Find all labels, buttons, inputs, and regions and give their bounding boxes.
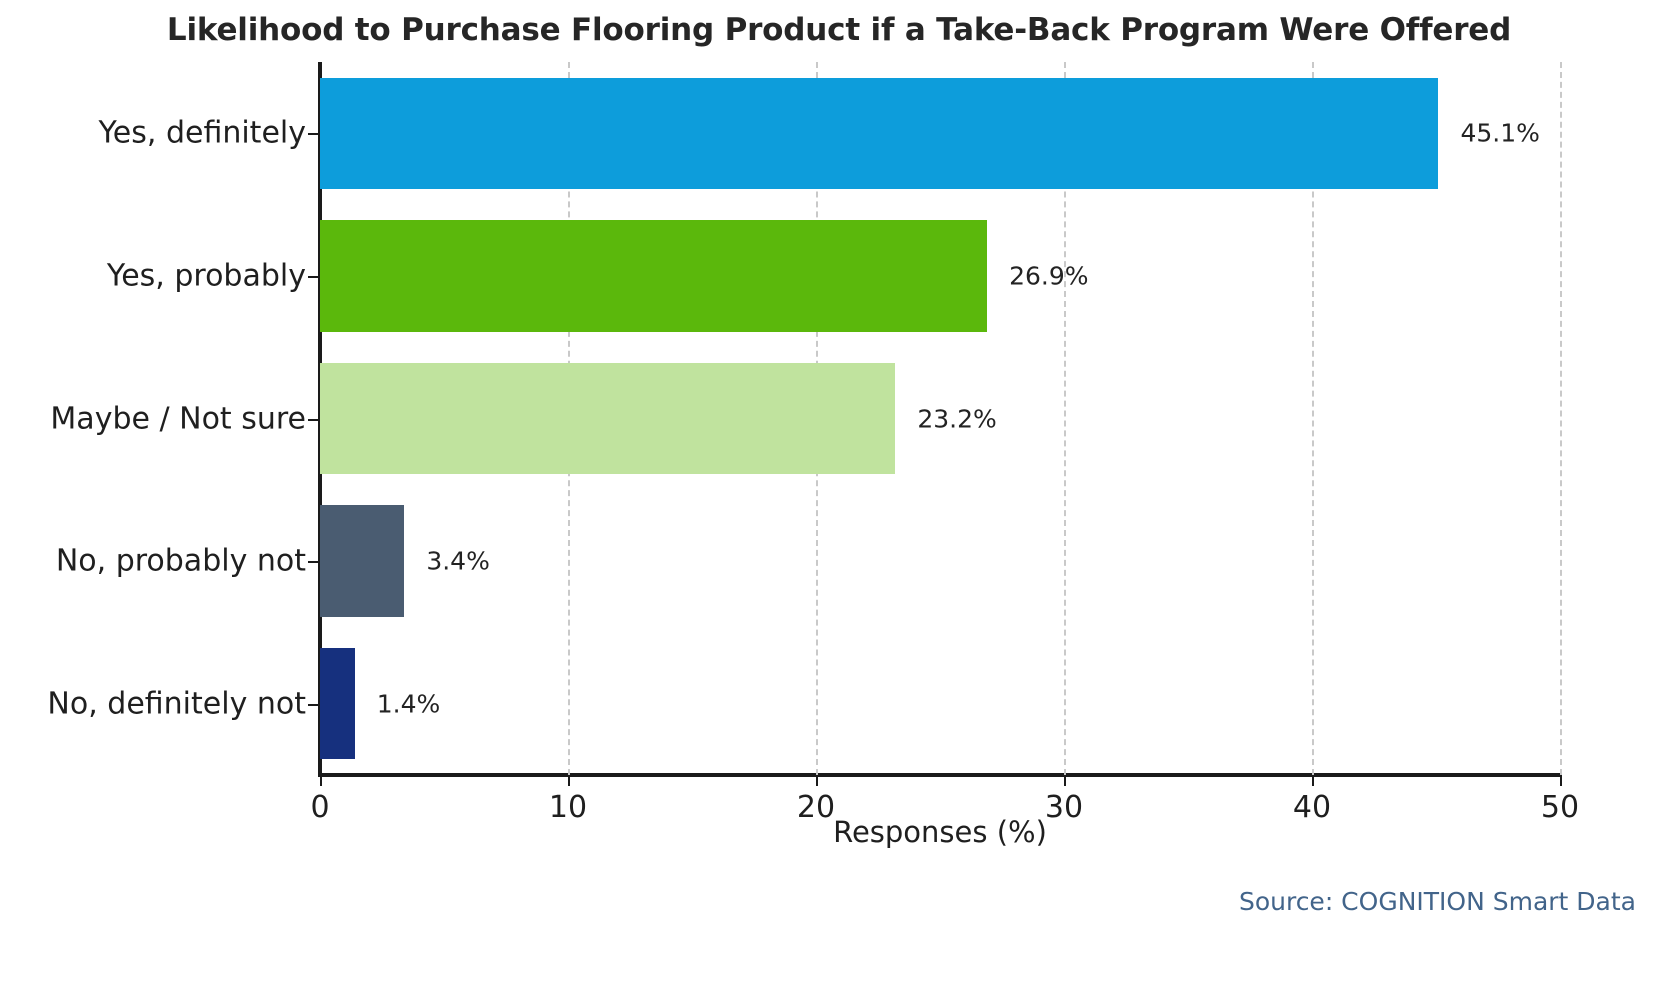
y-axis-label: No, definitely not — [47, 686, 306, 721]
x-tick-mark — [568, 775, 570, 786]
y-tick-mark — [308, 419, 320, 421]
y-tick-mark — [308, 561, 320, 563]
source-note: Source: COGNITION Smart Data — [1239, 887, 1636, 916]
chart-title: Likelihood to Purchase Flooring Product … — [0, 12, 1678, 48]
x-tick-mark — [1560, 775, 1562, 786]
y-axis-label: Maybe / Not sure — [50, 401, 306, 436]
bar — [320, 648, 355, 759]
x-tick-mark — [1064, 775, 1066, 786]
bar-value-label: 1.4% — [377, 689, 441, 718]
bar-value-label: 23.2% — [917, 404, 996, 433]
y-tick-mark — [308, 276, 320, 278]
bar — [320, 505, 404, 616]
x-tick-mark — [816, 775, 818, 786]
y-axis-label: No, probably not — [56, 544, 306, 579]
bar — [320, 78, 1438, 189]
bar — [320, 363, 895, 474]
x-axis-spine — [318, 773, 1562, 777]
x-tick-mark — [1312, 775, 1314, 786]
y-axis-label: Yes, definitely — [98, 116, 306, 151]
bar-value-label: 26.9% — [1009, 261, 1088, 290]
bar — [320, 220, 987, 331]
plot-area: 01020304050 45.1%26.9%23.2%3.4%1.4% — [320, 62, 1560, 775]
y-tick-mark — [308, 133, 320, 135]
y-axis-label: Yes, probably — [107, 258, 306, 293]
chart-figure: Likelihood to Purchase Flooring Product … — [0, 0, 1678, 1000]
bar-value-label: 45.1% — [1460, 119, 1539, 148]
x-axis-title: Responses (%) — [320, 815, 1560, 849]
y-tick-mark — [308, 704, 320, 706]
gridline — [1560, 62, 1562, 775]
x-tick-mark — [320, 775, 322, 786]
bar-value-label: 3.4% — [426, 547, 490, 576]
